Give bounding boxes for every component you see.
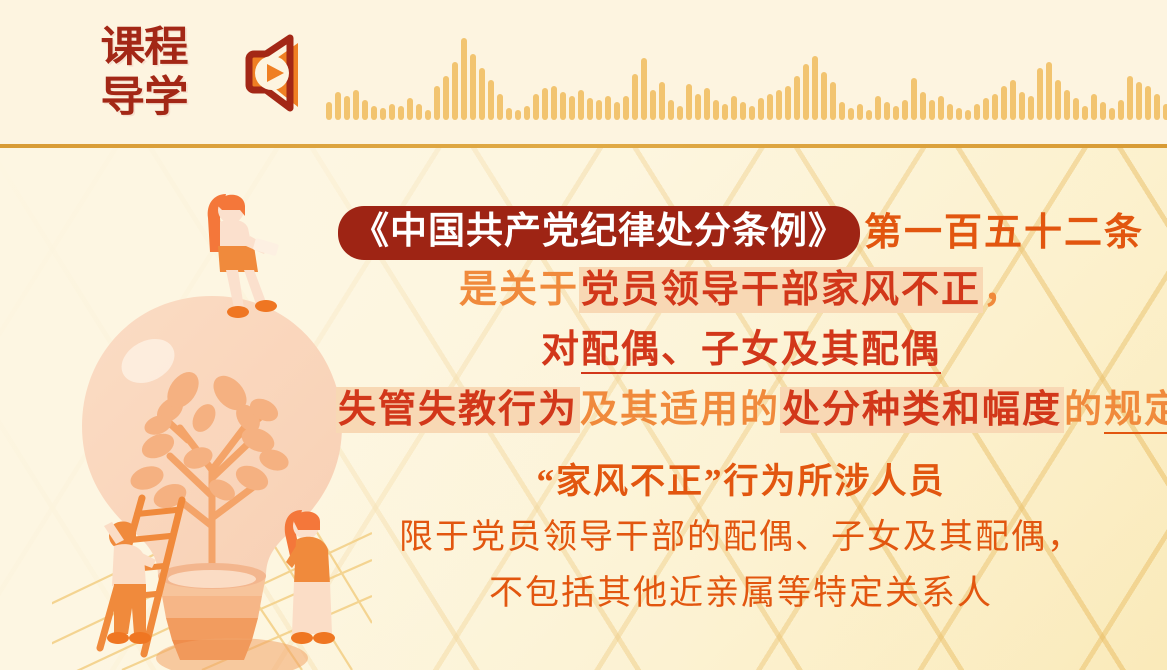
waveform-bar <box>1118 100 1124 120</box>
line2-comma: ， <box>983 269 1023 311</box>
sub-line-3: 不包括其他近亲属等特定关系人 <box>336 566 1146 622</box>
waveform-bar <box>425 110 431 120</box>
waveform-bar <box>389 104 395 120</box>
waveform-bar <box>938 96 944 120</box>
waveform-bar <box>434 86 440 120</box>
waveform-bar <box>695 94 701 120</box>
waveform-bar <box>956 108 962 120</box>
waveform-bar <box>479 68 485 120</box>
waveform-bar <box>992 94 998 120</box>
waveform-bar <box>650 90 656 120</box>
line4-mid: 及其适用的 <box>580 389 780 431</box>
waveform-bar <box>533 94 539 120</box>
waveform-bar <box>740 102 746 120</box>
paragraph-gap <box>336 440 1146 454</box>
waveform-bar <box>461 38 467 120</box>
waveform-bar <box>542 88 548 120</box>
waveform-bar <box>506 108 512 120</box>
sub-line-2: 限于党员领导干部的配偶、子女及其配偶， <box>336 510 1146 566</box>
logo-line-2: 导学 <box>101 72 188 122</box>
waveform-bar <box>614 102 620 120</box>
text-line-2: 是关于党员领导干部家风不正， <box>336 260 1146 320</box>
waveform-bar <box>866 110 872 120</box>
waveform-bar <box>1010 80 1016 120</box>
waveform-bar <box>407 98 413 120</box>
waveform-bar <box>1136 82 1142 120</box>
sub-line-1: “家风不正”行为所涉人员 <box>336 454 1146 510</box>
waveform-bar <box>416 104 422 120</box>
waveform-bar <box>893 106 899 120</box>
waveform-bar <box>965 110 971 120</box>
waveform-bar <box>812 56 818 120</box>
waveform-bar <box>911 78 917 120</box>
waveform-bar <box>1082 106 1088 120</box>
waveform-bar <box>1154 94 1160 120</box>
waveform-bar <box>380 108 386 120</box>
waveform-bar <box>785 86 791 120</box>
main-text-block: 《中国共产党纪律处分条例》第一百五十二条 是关于党员领导干部家风不正， 对配偶、… <box>336 200 1146 670</box>
waveform-bar <box>668 100 674 120</box>
audio-waveform <box>326 8 1146 120</box>
waveform-bar <box>803 64 809 120</box>
waveform-bar <box>659 82 665 120</box>
waveform-bar <box>569 96 575 120</box>
line4-de: 的 <box>1064 389 1104 431</box>
slide-canvas: 课程 导学 <box>0 0 1167 670</box>
waveform-bar <box>767 94 773 120</box>
waveform-bar <box>560 92 566 120</box>
waveform-bar <box>443 76 449 120</box>
line2-prefix: 是关于 <box>459 269 579 311</box>
header-bar: 课程 导学 <box>0 0 1167 148</box>
waveform-bar <box>551 86 557 120</box>
line3-underlined: 配偶、子女及其配偶 <box>581 329 941 374</box>
waveform-bar <box>596 100 602 120</box>
text-line-1: 《中国共产党纪律处分条例》第一百五十二条 <box>336 200 1146 260</box>
lightbulb-tree-illustration <box>52 178 372 670</box>
waveform-bar <box>605 96 611 120</box>
waveform-bar <box>749 106 755 120</box>
waveform-bar <box>713 100 719 120</box>
waveform-bar <box>326 102 332 120</box>
waveform-bar <box>983 98 989 120</box>
waveform-bar <box>488 80 494 120</box>
waveform-bar <box>497 94 503 120</box>
line3-prefix: 对 <box>541 329 581 371</box>
waveform-bar <box>1019 92 1025 120</box>
waveform-bar <box>578 90 584 120</box>
megaphone-play-icon[interactable] <box>222 24 314 120</box>
waveform-bar <box>623 96 629 120</box>
waveform-bar <box>947 104 953 120</box>
waveform-bar <box>1091 94 1097 120</box>
line2-highlight: 党员领导干部家风不正 <box>579 267 983 313</box>
waveform-bar <box>353 90 359 120</box>
waveform-bar <box>704 88 710 120</box>
line4-highlight-2: 处分种类和幅度 <box>780 387 1064 433</box>
waveform-bar <box>848 108 854 120</box>
waveform-bar <box>452 62 458 120</box>
waveform-bar <box>677 106 683 120</box>
waveform-bar <box>1028 96 1034 120</box>
waveform-bar <box>857 104 863 120</box>
waveform-bar <box>731 96 737 120</box>
line4-underlined: 规定 <box>1104 389 1167 434</box>
text-line-4: 失管失教行为及其适用的处分种类和幅度的规定。 <box>336 380 1146 440</box>
waveform-bar <box>776 90 782 120</box>
waveform-bar <box>641 58 647 120</box>
waveform-bar <box>1064 90 1070 120</box>
waveform-bar <box>1163 104 1167 120</box>
waveform-bar <box>344 96 350 120</box>
waveform-bar <box>920 92 926 120</box>
waveform-bar <box>686 84 692 120</box>
waveform-bar <box>875 96 881 120</box>
waveform-bar <box>758 98 764 120</box>
waveform-bar <box>362 100 368 120</box>
waveform-bar <box>1046 62 1052 120</box>
waveform-bar <box>839 102 845 120</box>
waveform-bar <box>902 100 908 120</box>
waveform-bar <box>884 102 890 120</box>
waveform-bar <box>929 100 935 120</box>
waveform-bar <box>587 98 593 120</box>
waveform-bar <box>1001 86 1007 120</box>
waveform-bar <box>470 54 476 120</box>
regulation-title-badge: 《中国共产党纪律处分条例》 <box>338 206 860 260</box>
waveform-bar <box>1055 80 1061 120</box>
waveform-bar <box>830 82 836 120</box>
waveform-bar <box>1109 108 1115 120</box>
course-guide-logo: 课程 导学 <box>85 18 203 126</box>
logo-line-1: 课程 <box>101 22 188 72</box>
waveform-bar <box>794 76 800 120</box>
waveform-bar <box>371 106 377 120</box>
waveform-bar <box>1145 86 1151 120</box>
waveform-bar <box>632 74 638 120</box>
waveform-bar <box>1037 68 1043 120</box>
waveform-bar <box>1127 76 1133 120</box>
text-line-3: 对配偶、子女及其配偶 <box>336 320 1146 380</box>
waveform-bar <box>524 106 530 120</box>
content-area: 《中国共产党纪律处分条例》第一百五十二条 是关于党员领导干部家风不正， 对配偶、… <box>0 148 1167 670</box>
waveform-bar <box>722 104 728 120</box>
line4-highlight-1: 失管失教行为 <box>336 387 580 433</box>
article-number: 第一百五十二条 <box>864 212 1144 254</box>
waveform-bar <box>335 92 341 120</box>
waveform-bar <box>1073 98 1079 120</box>
waveform-bar <box>515 110 521 120</box>
waveform-bar <box>398 106 404 120</box>
waveform-bar <box>821 72 827 120</box>
waveform-bar <box>1100 102 1106 120</box>
waveform-bar <box>974 104 980 120</box>
